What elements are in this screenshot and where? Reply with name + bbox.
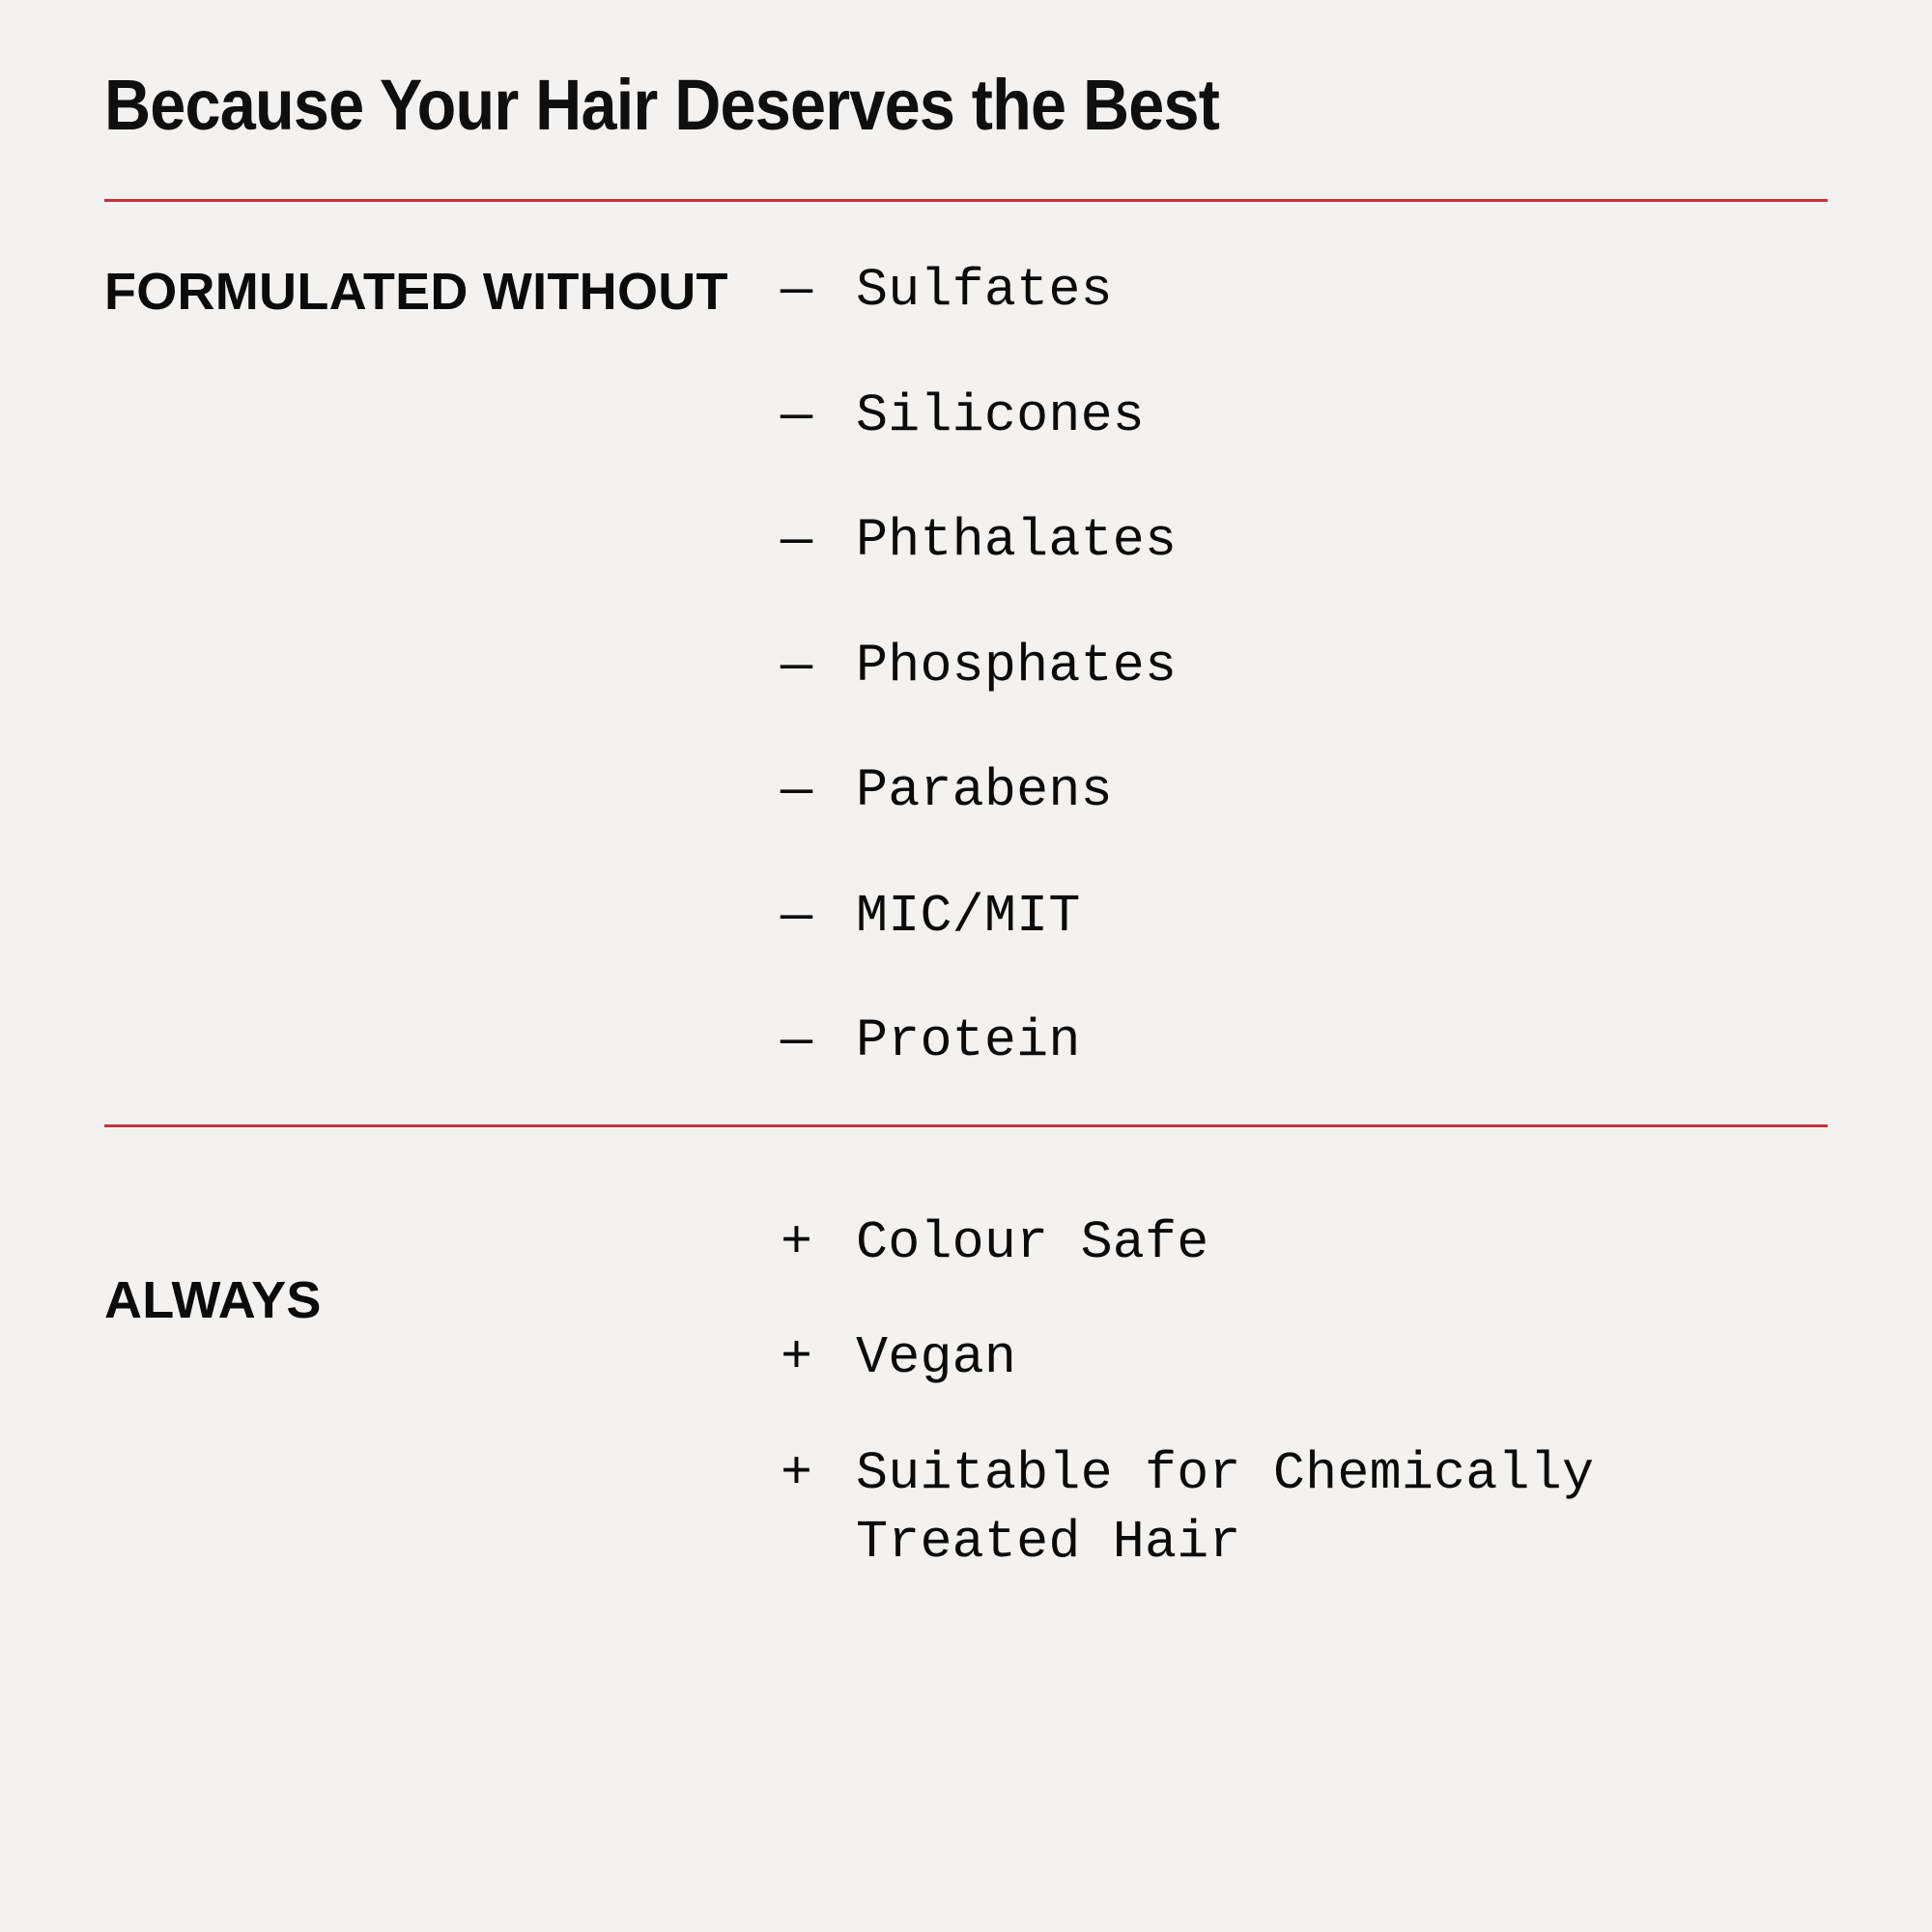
plus-marker-icon: + (781, 1208, 856, 1278)
list-item: — Phosphates (781, 632, 1828, 701)
minus-marker-icon: — (781, 256, 856, 326)
list-item: + Vegan (781, 1323, 1828, 1393)
list-item: — Protein (781, 1007, 1828, 1076)
list-item-label: Vegan (856, 1323, 1828, 1393)
minus-marker-icon: — (781, 506, 856, 576)
list-item: — MIC/MIT (781, 882, 1828, 952)
list-item: + Suitable for Chemically Treated Hair (781, 1439, 1828, 1577)
minus-marker-icon: — (781, 382, 856, 451)
section-always: ALWAYS + Colour Safe + Vegan + Suitable … (104, 1127, 1828, 1577)
plus-marker-icon: + (781, 1439, 856, 1509)
list-item-label: Colour Safe (856, 1208, 1828, 1278)
list-item-label: Silicones (856, 382, 1828, 451)
minus-marker-icon: — (781, 756, 856, 826)
page-title: Because Your Hair Deserves the Best (104, 70, 1656, 141)
list-item: + Colour Safe (781, 1208, 1828, 1278)
list-item-label: Protein (856, 1007, 1828, 1076)
list-item: — Silicones (781, 382, 1828, 451)
section-label-formulated-without: FORMULATED WITHOUT (104, 256, 781, 324)
list-item: — Parabens (781, 756, 1828, 826)
section-label-always: ALWAYS (104, 1208, 781, 1332)
list-item-label: Phthalates (856, 506, 1828, 576)
list-item-label: Parabens (856, 756, 1828, 826)
product-claims-panel: Because Your Hair Deserves the Best FORM… (0, 0, 1932, 1932)
list-always: + Colour Safe + Vegan + Suitable for Che… (781, 1208, 1828, 1577)
list-item-label: Phosphates (856, 632, 1828, 701)
section-formulated-without: FORMULATED WITHOUT — Sulfates — Silicone… (104, 202, 1828, 1124)
minus-marker-icon: — (781, 882, 856, 952)
title-block: Because Your Hair Deserves the Best (104, 0, 1828, 141)
list-formulated-without: — Sulfates — Silicones — Phthalates — Ph… (781, 256, 1828, 1076)
list-item-label: Suitable for Chemically Treated Hair (856, 1439, 1828, 1577)
list-item: — Sulfates (781, 256, 1828, 326)
minus-marker-icon: — (781, 1007, 856, 1076)
list-item-label: MIC/MIT (856, 882, 1828, 952)
plus-marker-icon: + (781, 1323, 856, 1393)
minus-marker-icon: — (781, 632, 856, 701)
list-item-label: Sulfates (856, 256, 1828, 326)
list-item: — Phthalates (781, 506, 1828, 576)
